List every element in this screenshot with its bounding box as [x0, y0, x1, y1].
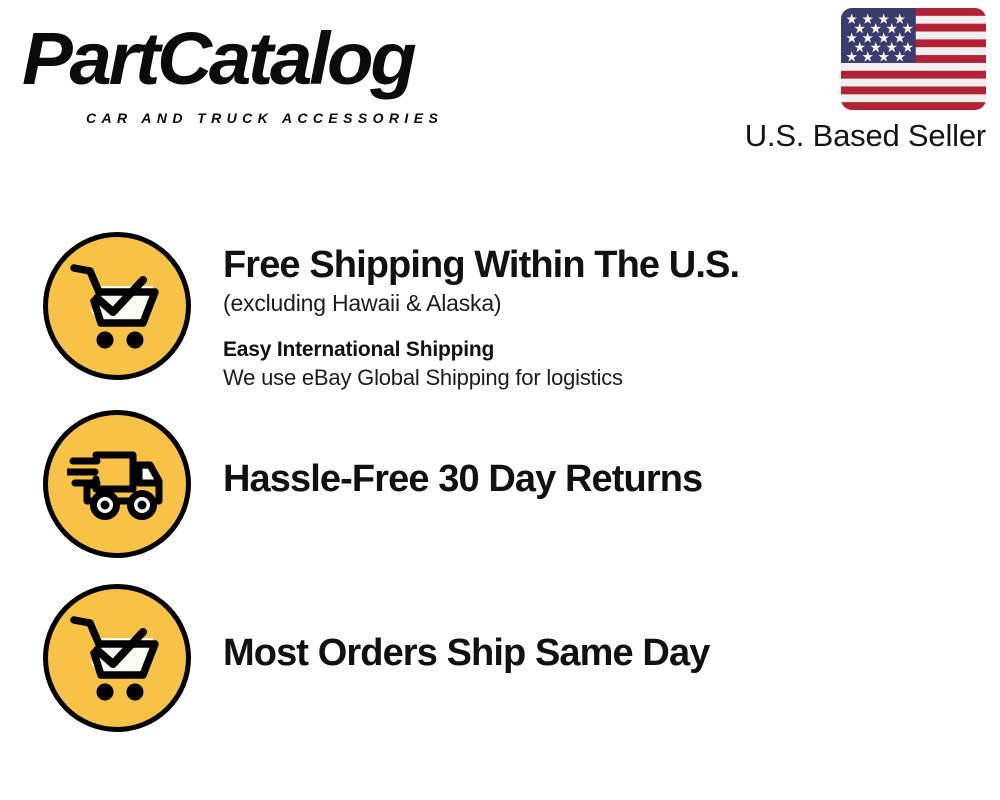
international-shipping-title: Easy International Shipping	[223, 336, 1000, 363]
feature-headline: Free Shipping Within The U.S.	[223, 242, 1000, 288]
feature-text: Free Shipping Within The U.S. (excluding…	[191, 232, 1000, 393]
shopping-cart-check-icon	[43, 584, 191, 732]
feature-subline: (excluding Hawaii & Alaska)	[223, 288, 1000, 318]
feature-headline: Most Orders Ship Same Day	[223, 630, 1000, 676]
us-based-seller-label: U.S. Based Seller	[726, 118, 986, 154]
delivery-truck-icon	[43, 410, 191, 558]
feature-row: Most Orders Ship Same Day	[0, 584, 1000, 732]
brand-wordmark: PartCatalog	[22, 22, 414, 96]
us-based-seller-badge: U.S. Based Seller	[726, 8, 986, 154]
feature-text: Most Orders Ship Same Day	[191, 584, 1000, 676]
feature-text: Hassle-Free 30 Day Returns	[191, 410, 1000, 502]
international-shipping-sub: We use eBay Global Shipping for logistic…	[223, 363, 1000, 393]
brand-logo: PartCatalog CAR AND TRUCK ACCESSORIES	[22, 22, 492, 122]
seller-info-banner: PartCatalog CAR AND TRUCK ACCESSORIES	[0, 0, 1000, 800]
brand-tagline: CAR AND TRUCK ACCESSORIES	[86, 110, 443, 126]
shopping-cart-check-icon	[43, 232, 191, 380]
feature-row: Hassle-Free 30 Day Returns	[0, 410, 1000, 558]
us-flag-icon	[841, 8, 986, 110]
feature-headline: Hassle-Free 30 Day Returns	[223, 456, 1000, 502]
international-shipping-block: Easy International Shipping We use eBay …	[223, 336, 1000, 393]
feature-row: Free Shipping Within The U.S. (excluding…	[0, 232, 1000, 393]
